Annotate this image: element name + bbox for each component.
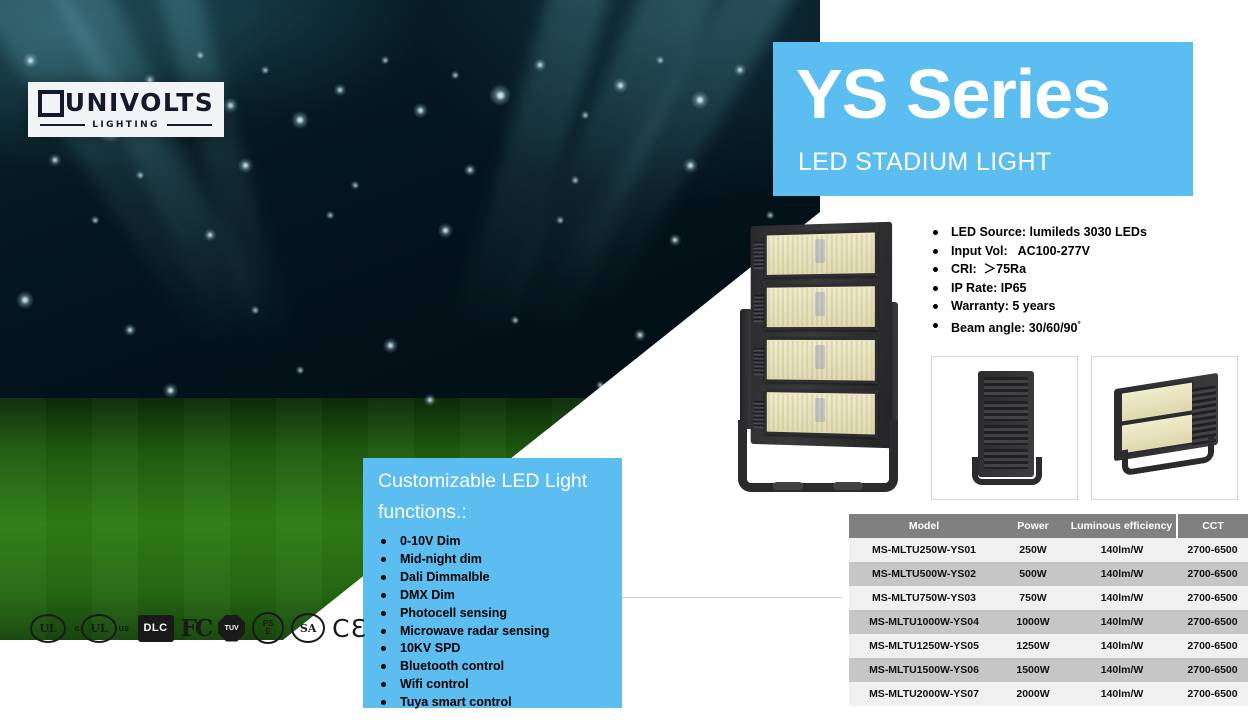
function-item-label: Microwave radar sensing [400, 623, 549, 639]
led-module [764, 337, 878, 384]
function-item: Dali Dimmalble [381, 569, 549, 585]
cell-power: 2000W [999, 682, 1067, 706]
bullet-icon [381, 646, 386, 651]
function-item: DMX Dim [381, 587, 549, 603]
function-item: Wifi control [381, 676, 549, 692]
function-item-label: Dali Dimmalble [400, 569, 490, 585]
bokeh-light-core [697, 97, 703, 103]
cell-model: MS-MLTU750W-YS03 [849, 586, 999, 610]
table-row: MS-MLTU500W-YS02500W140lm/W2700-6500 [849, 562, 1248, 586]
page-subtitle: LED STADIUM LIGHT [798, 148, 1052, 177]
bokeh-light-core [94, 219, 97, 222]
cell-efficiency: 140lm/W [1067, 538, 1177, 562]
bokeh-light-core [559, 219, 562, 222]
bokeh-light-core [254, 309, 257, 312]
bokeh-light-core [497, 92, 504, 99]
spec-item-label: Input Vol: AC100-277V [951, 243, 1090, 259]
function-item-label: Tuya smart control [400, 694, 512, 710]
poster-canvas: UNIVOLTS LIGHTING YS Series LED STADIUM … [0, 0, 1256, 722]
spec-item: CRI: ＞75Ra [933, 261, 1147, 277]
spec-item-label: LED Source: lumileds 3030 LEDs [951, 224, 1147, 240]
cell-cct: 2700-6500 [1177, 586, 1248, 610]
ce-mark-icon: CƐ [332, 614, 367, 643]
luminaire-housing [751, 222, 892, 448]
specification-list: LED Source: lumileds 3030 LEDsInput Vol:… [933, 224, 1147, 338]
bokeh-light-core [584, 114, 587, 117]
degree-symbol: ° [1077, 320, 1080, 329]
bokeh-light-core [514, 319, 517, 322]
bokeh-light-core [468, 168, 472, 172]
cell-model: MS-MLTU500W-YS02 [849, 562, 999, 586]
cell-model: MS-MLTU1000W-YS04 [849, 610, 999, 634]
function-item-label: Bluetooth control [400, 658, 504, 674]
product-thumbnail-gallery [931, 356, 1238, 500]
bokeh-light-core [574, 179, 577, 182]
bokeh-light-core [199, 54, 202, 57]
bokeh-light-core [673, 238, 677, 242]
customizable-functions-panel: Customizable LED Light functions.: 0-10V… [363, 458, 622, 708]
bokeh-light-core [297, 117, 303, 123]
bokeh-light-core [688, 163, 693, 168]
bokeh-light-core [53, 158, 57, 162]
function-item: Tuya smart control [381, 694, 549, 710]
bullet-icon [381, 539, 386, 544]
ul-mark-icon: UL [30, 614, 66, 643]
rear-module [984, 401, 1028, 421]
table-row: MS-MLTU750W-YS03750W140lm/W2700-6500 [849, 586, 1248, 610]
function-item: Photocell sensing [381, 605, 549, 621]
bokeh-light-core [384, 59, 387, 62]
spec-item: Warranty: 5 years [933, 298, 1147, 314]
bullet-icon [381, 700, 386, 705]
logo-rule-left [40, 124, 85, 126]
bokeh-light-core [443, 228, 448, 233]
section-divider [622, 597, 842, 598]
bullet-icon [381, 575, 386, 580]
c-ul-us-mark-icon: cULus [73, 614, 131, 643]
logo-rule-right [167, 124, 212, 126]
cell-model: MS-MLTU250W-YS01 [849, 538, 999, 562]
table-column-header: Luminous efficiency [1067, 514, 1177, 538]
table-column-header: CCT [1177, 514, 1248, 538]
functions-heading-line1: Customizable LED Light [378, 470, 587, 492]
spec-item: IP Rate: IP65 [933, 280, 1147, 296]
functions-heading: Customizable LED Light functions.: [378, 466, 610, 528]
function-item-label: Photocell sensing [400, 605, 507, 621]
spec-item-label: Warranty: 5 years [951, 298, 1055, 314]
pse-mark-icon: PSE [252, 612, 284, 644]
csa-mark-icon: SA [291, 613, 325, 643]
bokeh-light-core [454, 74, 457, 77]
cell-efficiency: 140lm/W [1067, 562, 1177, 586]
cell-efficiency: 140lm/W [1067, 682, 1177, 706]
bullet-icon [381, 611, 386, 616]
dlc-mark-icon: DLC [138, 615, 174, 642]
bokeh-light-core [718, 393, 723, 398]
bokeh-light-core [738, 68, 742, 72]
cell-cct: 2700-6500 [1177, 658, 1248, 682]
function-item-label: 10KV SPD [400, 640, 460, 656]
bokeh-light-core [388, 343, 393, 348]
bokeh-light-core [338, 88, 342, 92]
table-column-header: Model [849, 514, 999, 538]
cell-power: 1500W [999, 658, 1067, 682]
led-module [764, 283, 878, 330]
bokeh-light-core [428, 398, 432, 402]
cell-efficiency: 140lm/W [1067, 634, 1177, 658]
tuv-mark-icon: TUV [218, 615, 245, 642]
cell-cct: 2700-6500 [1177, 610, 1248, 634]
fcc-mark-icon: FC [181, 615, 212, 642]
hero-product-image [726, 224, 906, 509]
cell-cct: 2700-6500 [1177, 682, 1248, 706]
cell-model: MS-MLTU2000W-YS07 [849, 682, 999, 706]
title-block: YS Series LED STADIUM LIGHT [773, 42, 1193, 196]
bullet-icon [933, 304, 938, 309]
bokeh-light-core [599, 384, 602, 387]
yoke-bracket [972, 457, 1042, 485]
bokeh-light-core [299, 369, 302, 372]
cell-model: MS-MLTU1500W-YS06 [849, 658, 999, 682]
product-thumbnail-angled[interactable] [1091, 356, 1238, 500]
function-item-label: Mid-night dim [400, 551, 482, 567]
function-item-label: Wifi control [400, 676, 469, 692]
cell-cct: 2700-6500 [1177, 562, 1248, 586]
bokeh-light-core [538, 63, 542, 67]
product-thumbnail-rear[interactable] [931, 356, 1078, 500]
bokeh-light-core [228, 103, 233, 108]
bullet-icon [381, 682, 386, 687]
bokeh-light-core [139, 174, 142, 177]
cell-power: 750W [999, 586, 1067, 610]
bullet-icon [381, 557, 386, 562]
spec-item-label: Beam angle: 30/60/90° [951, 317, 1081, 336]
spec-item: Beam angle: 30/60/90° [933, 317, 1147, 336]
function-item: Bluetooth control [381, 658, 549, 674]
function-item: 10KV SPD [381, 640, 549, 656]
bokeh-light-core [618, 83, 623, 88]
bullet-icon [933, 249, 938, 254]
function-item-label: 0-10V Dim [400, 533, 460, 549]
cell-efficiency: 140lm/W [1067, 586, 1177, 610]
brand-tagline: LIGHTING [85, 120, 167, 130]
spec-item: LED Source: lumileds 3030 LEDs [933, 224, 1147, 240]
bullet-icon [933, 323, 938, 328]
bokeh-light-core [329, 214, 332, 217]
table-header-row: ModelPowerLuminous efficiencyCCT [849, 514, 1248, 538]
bullet-icon [933, 267, 938, 272]
bokeh-light-core [354, 184, 357, 187]
bokeh-light-core [638, 333, 642, 337]
cell-power: 1250W [999, 634, 1067, 658]
bullet-icon [933, 230, 938, 235]
certification-badges: UL cULus DLC FC TUV PSE SA CƐ [30, 612, 367, 644]
bokeh-light-core [418, 108, 423, 113]
spec-item: Input Vol: AC100-277V [933, 243, 1147, 259]
bullet-icon [381, 664, 386, 669]
spec-item-label: IP Rate: IP65 [951, 280, 1027, 296]
bokeh-light-core [208, 233, 212, 237]
cell-cct: 2700-6500 [1177, 538, 1248, 562]
univolts-u-monogram-icon [38, 90, 64, 117]
page-title: YS Series [796, 52, 1110, 136]
spec-item-label: CRI: ＞75Ra [951, 261, 1026, 277]
bokeh-light-core [659, 59, 662, 62]
product-specification-table: ModelPowerLuminous efficiencyCCT MS-MLTU… [849, 514, 1248, 706]
cell-efficiency: 140lm/W [1067, 610, 1177, 634]
cell-efficiency: 140lm/W [1067, 658, 1177, 682]
cell-model: MS-MLTU1250W-YS05 [849, 634, 999, 658]
bokeh-light-core [264, 69, 267, 72]
bokeh-light-core [22, 297, 28, 303]
bullet-icon [381, 593, 386, 598]
cell-power: 250W [999, 538, 1067, 562]
table-row: MS-MLTU1500W-YS061500W140lm/W2700-6500 [849, 658, 1248, 682]
table-column-header: Power [999, 514, 1067, 538]
led-module [764, 229, 878, 278]
night-sky [0, 0, 820, 430]
bokeh-light-core [28, 58, 33, 63]
bullet-icon [381, 629, 386, 634]
cell-cct: 2700-6500 [1177, 634, 1248, 658]
cell-power: 500W [999, 562, 1067, 586]
table-row: MS-MLTU250W-YS01250W140lm/W2700-6500 [849, 538, 1248, 562]
function-item: Mid-night dim [381, 551, 549, 567]
bokeh-light-core [168, 388, 173, 393]
function-item: Microwave radar sensing [381, 623, 549, 639]
table-row: MS-MLTU2000W-YS072000W140lm/W2700-6500 [849, 682, 1248, 706]
functions-heading-line2: functions.: [378, 501, 467, 523]
brand-logo: UNIVOLTS LIGHTING [28, 82, 224, 137]
brand-name: UNIVOLTS [65, 90, 215, 116]
table-row: MS-MLTU1000W-YS041000W140lm/W2700-6500 [849, 610, 1248, 634]
table-row: MS-MLTU1250W-YS051250W140lm/W2700-6500 [849, 634, 1248, 658]
bokeh-light-core [128, 328, 132, 332]
yoke-bracket [738, 420, 898, 492]
cell-power: 1000W [999, 610, 1067, 634]
bokeh-light-core [769, 214, 772, 217]
function-item: 0-10V Dim [381, 533, 549, 549]
rear-module [984, 425, 1028, 445]
bokeh-light-core [243, 163, 248, 168]
bullet-icon [933, 286, 938, 291]
rear-module [984, 377, 1028, 397]
function-item-label: DMX Dim [400, 587, 455, 603]
